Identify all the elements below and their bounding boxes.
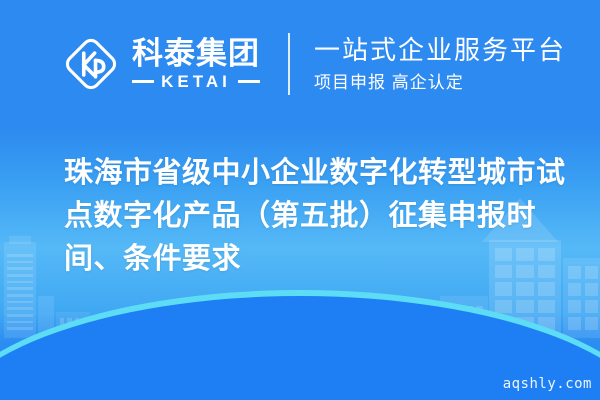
brand-name-en: KETAI bbox=[161, 73, 231, 90]
brand-name-cn: 科泰集团 bbox=[132, 38, 260, 69]
site-watermark: aqshly.com bbox=[503, 376, 592, 392]
page-title: 珠海市省级中小企业数字化转型城市试点数字化产品（第五批）征集申报时间、条件要求 bbox=[64, 152, 576, 281]
ketai-diamond-kp-logo-icon bbox=[62, 35, 120, 93]
tagline-main: 一站式企业服务平台 bbox=[314, 37, 566, 63]
brand-logo[interactable]: 科泰集团 KETAI bbox=[62, 35, 260, 93]
header-divider bbox=[288, 33, 290, 95]
dash-left-decor bbox=[132, 80, 154, 83]
banner-header: 科泰集团 KETAI 一站式企业服务平台 项目申报 高企认定 bbox=[0, 0, 600, 128]
tagline-sub: 项目申报 高企认定 bbox=[314, 74, 566, 91]
promo-banner: 科泰集团 KETAI 一站式企业服务平台 项目申报 高企认定 珠海市省级中小企业… bbox=[0, 0, 600, 400]
brand-name-en-row: KETAI bbox=[132, 73, 260, 90]
brand-tagline: 一站式企业服务平台 项目申报 高企认定 bbox=[314, 37, 566, 91]
dash-right-decor bbox=[238, 80, 260, 83]
brand-wordmark: 科泰集团 KETAI bbox=[132, 38, 260, 90]
